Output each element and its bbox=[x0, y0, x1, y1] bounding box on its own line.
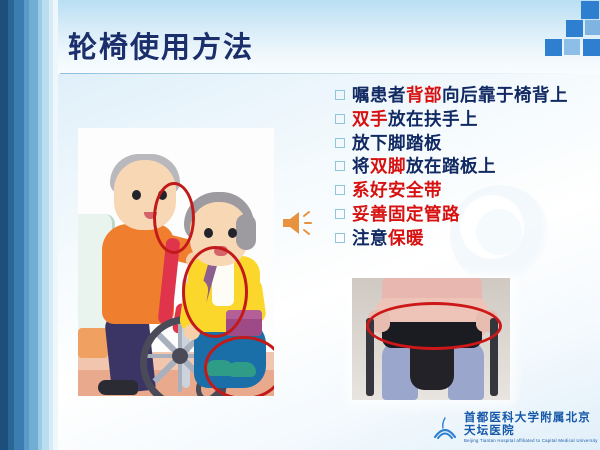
text-segment-red: 背部 bbox=[406, 85, 442, 105]
annotation-ellipse-2 bbox=[204, 336, 274, 396]
hospital-name-cn: 首都医科大学附属北京天坛医院 bbox=[464, 412, 600, 437]
text-segment-blue: 放在踏板上 bbox=[406, 156, 496, 176]
stripe-8 bbox=[53, 0, 58, 450]
safety-belt-photo bbox=[352, 278, 510, 400]
bullet-square-icon bbox=[335, 90, 345, 100]
hospital-logo-text: 首都医科大学附属北京天坛医院 Beijing Tiantan Hospital … bbox=[464, 412, 600, 443]
list-item-text: 双手放在扶手上 bbox=[352, 108, 593, 131]
hospital-name-en: Beijing Tiantan Hospital affiliated to C… bbox=[464, 438, 600, 443]
list-item: 嘱患者背部向后靠于椅背上 bbox=[335, 84, 593, 107]
annotation-ellipse-0 bbox=[153, 182, 195, 254]
wheelchair-illustration bbox=[78, 128, 274, 396]
text-segment-blue: 注意 bbox=[352, 228, 388, 248]
patient-eye-right bbox=[228, 228, 237, 238]
stripe-0 bbox=[0, 0, 8, 450]
list-item: 注意保暖 bbox=[335, 227, 593, 250]
text-segment-blue: 放下脚踏板 bbox=[352, 133, 442, 153]
caregiver-shoe bbox=[98, 380, 138, 395]
corner-square-4 bbox=[564, 39, 580, 55]
list-item-text: 将双脚放在踏板上 bbox=[352, 155, 593, 178]
bullet-square-icon bbox=[335, 233, 345, 243]
text-segment-red: 妥善固定管路 bbox=[352, 204, 460, 224]
text-segment-red: 双脚 bbox=[370, 156, 406, 176]
list-item: 妥善固定管路 bbox=[335, 203, 593, 226]
bullet-square-icon bbox=[335, 185, 345, 195]
photo-annotation-ellipse bbox=[366, 302, 502, 350]
bullet-square-icon bbox=[335, 114, 345, 124]
annotation-ellipse-1 bbox=[182, 246, 248, 338]
list-item-text: 注意保暖 bbox=[352, 227, 593, 250]
list-item-text: 妥善固定管路 bbox=[352, 203, 593, 226]
caregiver-eye-left bbox=[132, 190, 141, 200]
stripe-2 bbox=[14, 0, 24, 450]
list-item-text: 嘱患者背部向后靠于椅背上 bbox=[352, 84, 593, 107]
stripe-4 bbox=[29, 0, 38, 450]
text-segment-red: 系好安全带 bbox=[352, 180, 442, 200]
text-segment-blue: 嘱患者 bbox=[352, 85, 406, 105]
list-item-text: 放下脚踏板 bbox=[352, 132, 593, 155]
page-title: 轮椅使用方法 bbox=[68, 24, 254, 66]
corner-square-2 bbox=[585, 20, 600, 35]
corner-square-0 bbox=[581, 1, 599, 19]
left-stripe-decoration bbox=[0, 0, 60, 450]
list-item: 将双脚放在踏板上 bbox=[335, 155, 593, 178]
list-item: 双手放在扶手上 bbox=[335, 108, 593, 131]
text-segment-blue: 向后靠于椅背上 bbox=[442, 85, 568, 105]
text-segment-blue: 放在扶手上 bbox=[388, 109, 478, 129]
wheelchair-hub bbox=[172, 348, 188, 364]
hospital-logo: 首都医科大学附属北京天坛医院 Beijing Tiantan Hospital … bbox=[432, 412, 600, 443]
instruction-list: 嘱患者背部向后靠于椅背上双手放在扶手上放下脚踏板将双脚放在踏板上系好安全带妥善固… bbox=[335, 84, 593, 250]
text-segment-red: 双手 bbox=[352, 109, 388, 129]
list-item: 放下脚踏板 bbox=[335, 132, 593, 155]
bullet-square-icon bbox=[335, 138, 345, 148]
stripe-6 bbox=[42, 0, 49, 450]
text-segment-blue: 将 bbox=[352, 156, 370, 176]
header-divider bbox=[60, 73, 600, 74]
corner-square-5 bbox=[583, 39, 600, 56]
speaker-icon[interactable] bbox=[280, 208, 316, 238]
text-segment-red: 保暖 bbox=[388, 228, 424, 248]
bullet-square-icon bbox=[335, 161, 345, 171]
list-item-text: 系好安全带 bbox=[352, 179, 593, 202]
slide-canvas: 轮椅使用方法 嘱患者背部向后靠于椅背上双手放在扶手上放下脚踏板将双脚放在踏板上系… bbox=[0, 0, 600, 450]
hospital-logo-icon bbox=[432, 415, 458, 441]
corner-square-3 bbox=[545, 39, 562, 56]
corner-square-1 bbox=[566, 20, 583, 37]
bullet-square-icon bbox=[335, 209, 345, 219]
list-item: 系好安全带 bbox=[335, 179, 593, 202]
patient-hair-side bbox=[236, 214, 256, 250]
illustration-background-accent bbox=[78, 328, 108, 358]
patient-eye-left bbox=[204, 228, 213, 238]
